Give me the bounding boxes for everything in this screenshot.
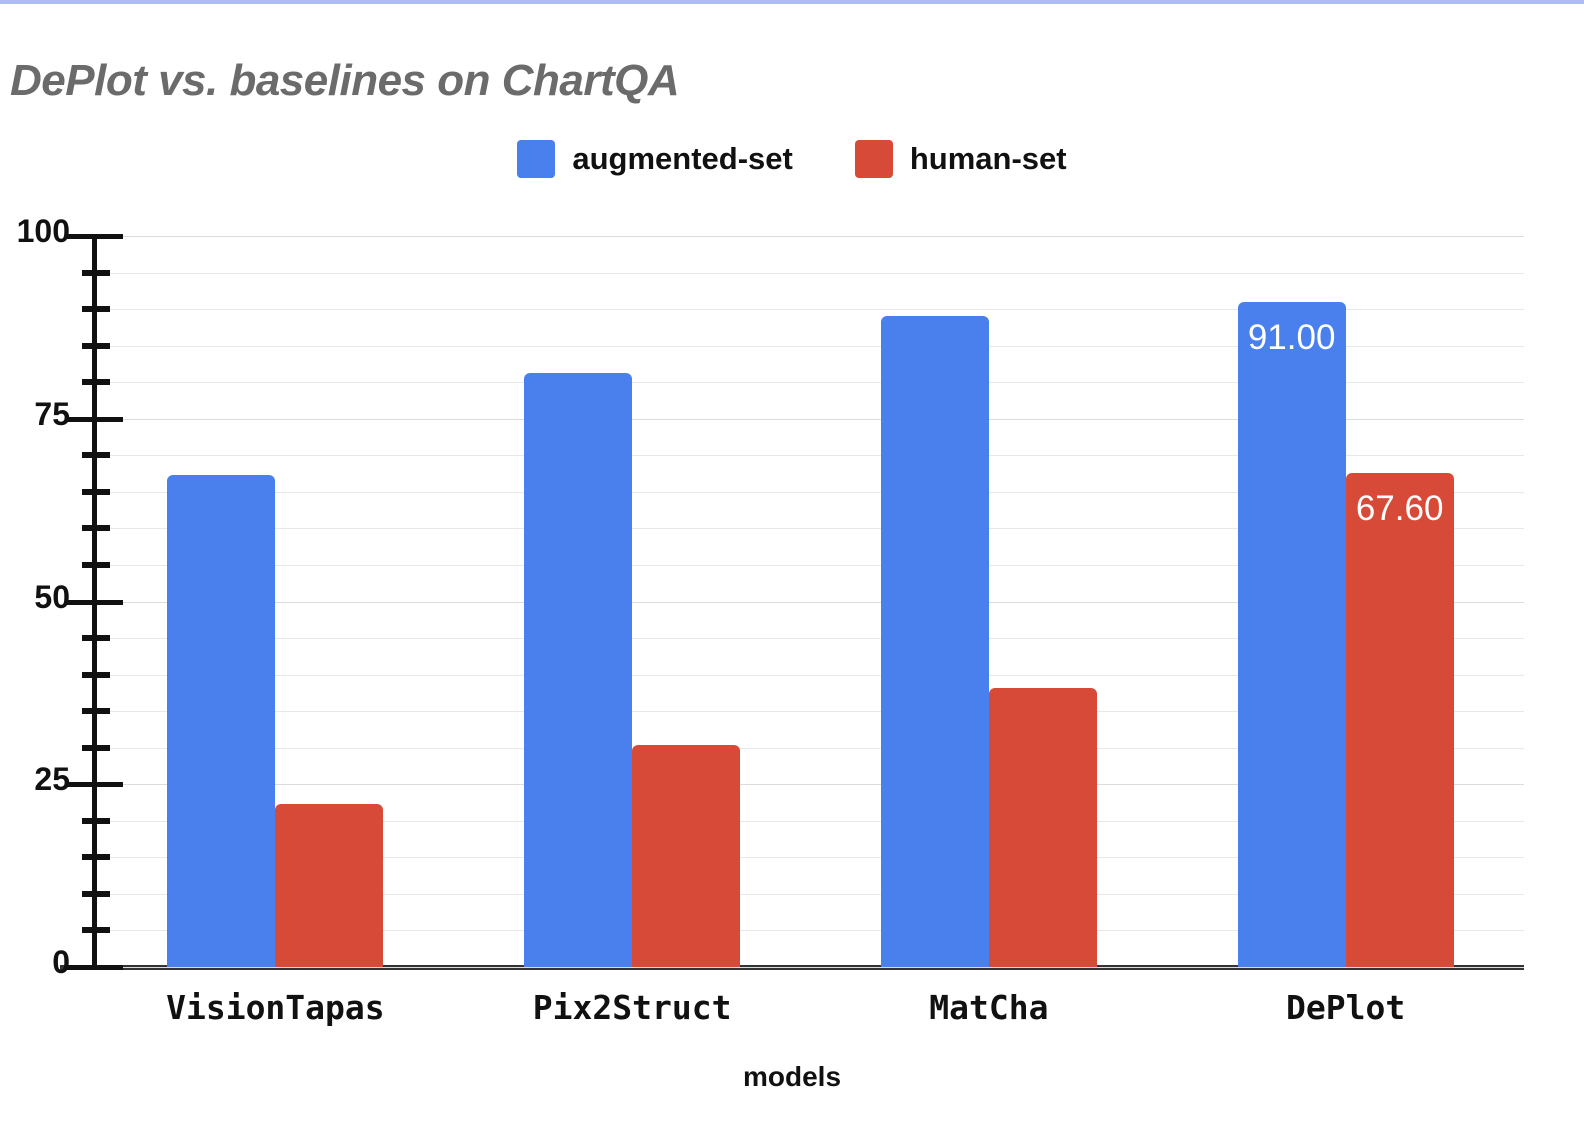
plot-area: 91.0067.60 bbox=[97, 236, 1524, 967]
y-axis-tick-minor bbox=[82, 562, 110, 568]
y-axis-tick-minor bbox=[82, 708, 110, 714]
x-axis-category-label: Pix2Struct bbox=[454, 988, 811, 1027]
y-axis-tick-label: 25 bbox=[34, 761, 70, 798]
y-axis-tick-minor bbox=[82, 489, 110, 495]
gridline bbox=[97, 967, 1524, 968]
bar-VisionTapas-human-set[interactable] bbox=[275, 804, 383, 967]
y-axis-tick-minor bbox=[82, 306, 110, 312]
y-axis-tick-minor bbox=[82, 745, 110, 751]
legend-swatch-icon bbox=[855, 140, 893, 178]
x-axis-title: models bbox=[0, 1061, 1584, 1093]
legend-label: augmented-set bbox=[572, 141, 792, 177]
y-axis-tick-minor bbox=[82, 854, 110, 860]
y-axis-tick-minor bbox=[82, 818, 110, 824]
chart-canvas: DePlot vs. baselines on ChartQA augmente… bbox=[0, 0, 1584, 1142]
bar-VisionTapas-augmented-set[interactable] bbox=[167, 475, 275, 967]
y-axis-tick-label: 75 bbox=[34, 396, 70, 433]
x-axis-category-label: MatCha bbox=[811, 988, 1168, 1027]
y-axis-tick-minor bbox=[82, 379, 110, 385]
bar-Pix2Struct-human-set[interactable] bbox=[632, 745, 740, 967]
bar-Pix2Struct-augmented-set[interactable] bbox=[524, 373, 632, 967]
y-axis-tick-minor bbox=[82, 343, 110, 349]
gridline bbox=[97, 236, 1524, 237]
y-axis-tick-major bbox=[66, 965, 123, 970]
y-axis-tick-label: 0 bbox=[52, 944, 70, 981]
bar-DePlot-human-set[interactable]: 67.60 bbox=[1346, 473, 1454, 967]
bar-MatCha-augmented-set[interactable] bbox=[881, 316, 989, 967]
y-axis-tick-major bbox=[66, 234, 123, 239]
x-axis-category-label: VisionTapas bbox=[97, 988, 454, 1027]
y-axis-tick-minor bbox=[82, 672, 110, 678]
y-axis-tick-label: 50 bbox=[34, 579, 70, 616]
y-axis-tick-major bbox=[66, 600, 123, 605]
y-axis-tick-label: 100 bbox=[17, 213, 70, 250]
y-axis-tick-minor bbox=[82, 525, 110, 531]
chart-legend: augmented-sethuman-set bbox=[0, 140, 1584, 178]
legend-swatch-icon bbox=[517, 140, 555, 178]
y-axis-tick-minor bbox=[82, 927, 110, 933]
y-axis-tick-minor bbox=[82, 452, 110, 458]
legend-label: human-set bbox=[910, 141, 1067, 177]
page-title: DePlot vs. baselines on ChartQA bbox=[10, 56, 679, 106]
y-axis-tick-major bbox=[66, 782, 123, 787]
y-axis-tick-minor bbox=[82, 635, 110, 641]
bar-MatCha-human-set[interactable] bbox=[989, 688, 1097, 967]
y-axis-tick-minor bbox=[82, 891, 110, 897]
bar-DePlot-augmented-set[interactable]: 91.00 bbox=[1238, 302, 1346, 967]
bar-value-label: 91.00 bbox=[1238, 318, 1346, 358]
x-axis-category-label: DePlot bbox=[1167, 988, 1524, 1027]
y-axis-tick-minor bbox=[82, 270, 110, 276]
y-axis-tick-major bbox=[66, 417, 123, 422]
legend-entry-human-set[interactable]: human-set bbox=[855, 140, 1067, 178]
gridline bbox=[97, 273, 1524, 274]
legend-entry-augmented-set[interactable]: augmented-set bbox=[517, 140, 792, 178]
bar-value-label: 67.60 bbox=[1346, 489, 1454, 529]
